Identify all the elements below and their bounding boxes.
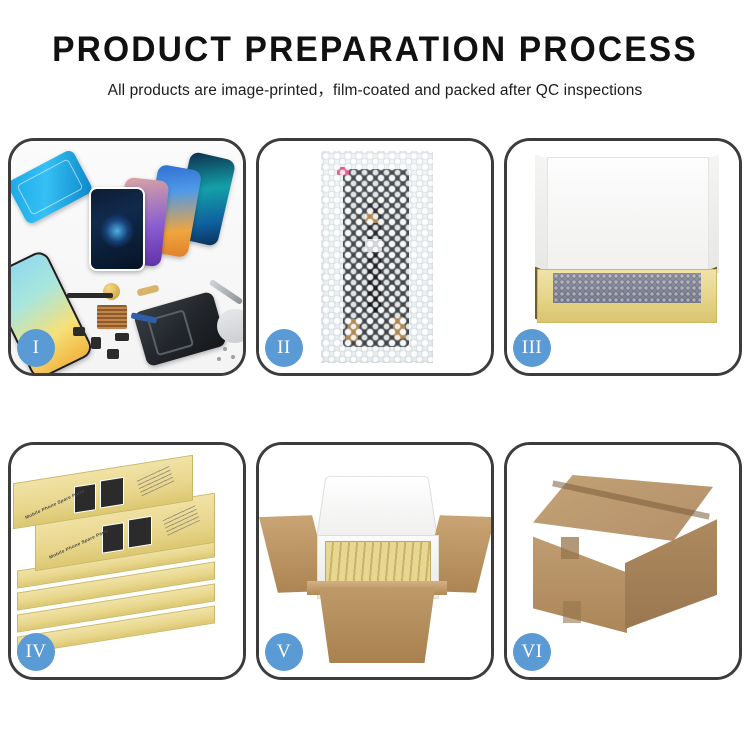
bubble-wrap-bag — [321, 151, 433, 363]
flex-cable-part — [67, 293, 113, 298]
copper-shield-part — [97, 305, 127, 329]
bubble-texture — [321, 151, 433, 363]
gray-foam-padding — [553, 273, 701, 303]
yellow-boxes-inside — [325, 541, 431, 585]
step-badge-4: IV — [17, 633, 55, 671]
small-chip-part — [107, 349, 119, 359]
header: PRODUCT PREPARATION PROCESS All products… — [0, 0, 750, 100]
screw-part — [231, 355, 235, 359]
process-step-panel-3[interactable]: III — [504, 138, 742, 376]
step-badge-6: VI — [513, 633, 551, 671]
process-step-panel-2[interactable]: II — [256, 138, 494, 376]
product-window-image — [128, 516, 152, 549]
screw-part — [223, 347, 227, 351]
carton-tape-mark — [563, 601, 581, 623]
product-preparation-infographic: PRODUCT PREPARATION PROCESS All products… — [0, 0, 750, 750]
small-chip-part — [91, 337, 101, 349]
step-badge-1: I — [17, 329, 55, 367]
small-chip-part — [73, 327, 85, 336]
gloved-hand — [217, 309, 243, 343]
page-title: PRODUCT PREPARATION PROCESS — [15, 30, 735, 69]
process-step-panel-6[interactable]: VI — [504, 442, 742, 680]
small-chip-part — [115, 333, 129, 341]
product-window-image — [100, 477, 124, 509]
spec-text-lines — [136, 463, 174, 496]
process-step-grid: I II — [8, 138, 742, 680]
product-window-image — [74, 483, 96, 513]
step-badge-3: III — [513, 329, 551, 367]
phone-glass-screen — [89, 187, 145, 271]
process-step-panel-1[interactable]: I — [8, 138, 246, 376]
phone-back-housing — [133, 291, 227, 367]
styrofoam-lid — [316, 476, 439, 541]
process-step-panel-4[interactable]: Mobile Phone Spare Parts Mobile Phone Sp… — [8, 442, 246, 680]
blue-screen-film — [11, 148, 94, 225]
step-badge-2: II — [265, 329, 303, 367]
spec-text-lines — [162, 502, 200, 535]
product-window-image — [102, 522, 124, 553]
box-lid-foam-panel — [547, 157, 709, 277]
carton-tape-mark — [561, 537, 579, 559]
process-step-panel-5[interactable]: V — [256, 442, 494, 680]
page-subtitle: All products are image-printed，film-coat… — [0, 78, 750, 100]
screw-part — [217, 357, 221, 361]
step-badge-5: V — [265, 633, 303, 671]
carton-front-face — [311, 587, 443, 663]
retail-box-label: Mobile Phone Spare Parts — [49, 528, 109, 560]
gold-connector-part — [136, 284, 159, 296]
